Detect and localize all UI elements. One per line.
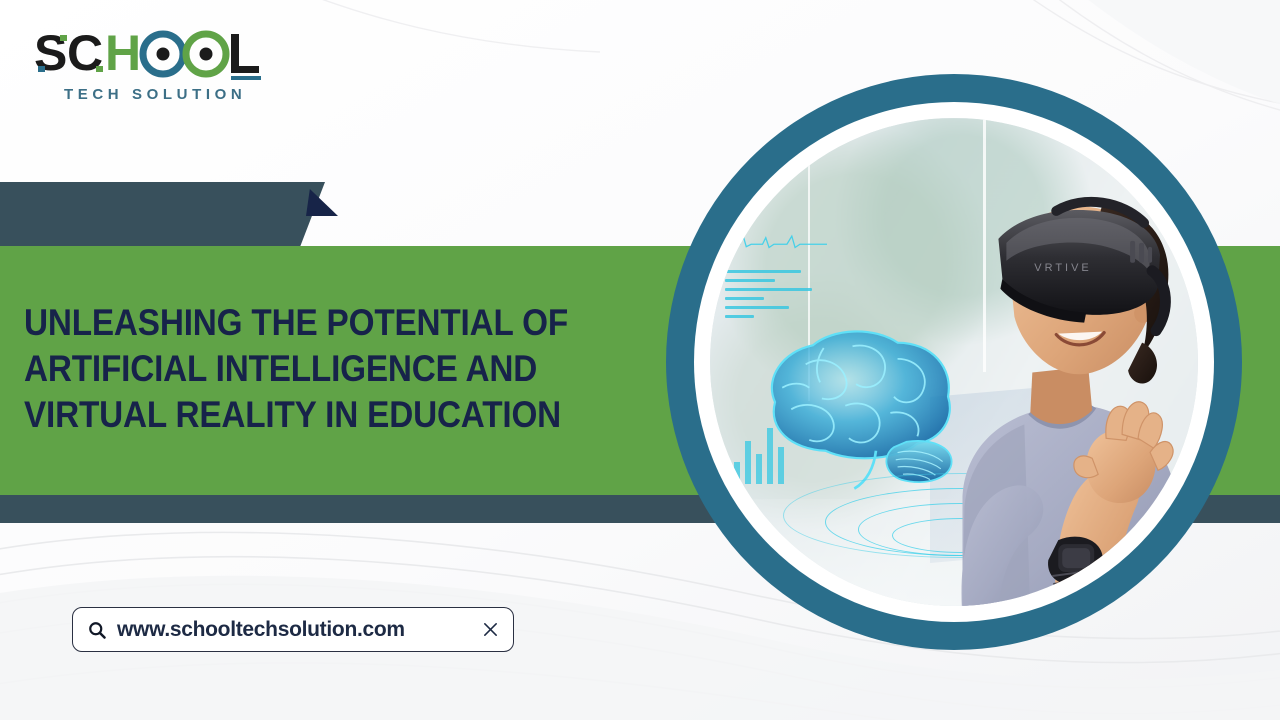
headline-line-3: VIRTUAL REALITY IN EDUCATION: [24, 392, 600, 438]
logo-wordmark-svg: S C H: [34, 26, 264, 82]
hud-waveform: [730, 230, 828, 252]
page-title: UNLEASHING THE POTENTIAL OF ARTIFICIAL I…: [24, 300, 600, 438]
svg-text:C: C: [67, 26, 102, 81]
hero-image-circle: VRTIVE: [666, 74, 1242, 650]
headline-line-2: ARTIFICIAL INTELLIGENCE AND: [24, 346, 600, 392]
search-icon: [87, 620, 107, 640]
url-text[interactable]: www.schooltechsolution.com: [117, 618, 472, 642]
slate-ribbon: [0, 182, 340, 247]
navy-triangle-accent: [306, 189, 338, 216]
svg-text:VRTIVE: VRTIVE: [1035, 262, 1092, 274]
close-icon[interactable]: [482, 621, 499, 638]
svg-text:S: S: [34, 26, 66, 81]
logo-wordmark: S C H: [34, 26, 264, 82]
student-with-vr-headset: VRTIVE: [905, 167, 1198, 606]
svg-text:H: H: [105, 26, 140, 81]
banner-canvas: S C H TECH SOLUTION: [0, 0, 1280, 720]
logo-tagline: TECH SOLUTION: [64, 86, 246, 103]
hero-photo: VRTIVE: [710, 118, 1198, 606]
url-search-bar[interactable]: www.schooltechsolution.com: [72, 607, 514, 652]
brand-logo[interactable]: S C H TECH SOLUTION: [34, 26, 274, 118]
headline-line-1: UNLEASHING THE POTENTIAL OF: [24, 300, 600, 346]
